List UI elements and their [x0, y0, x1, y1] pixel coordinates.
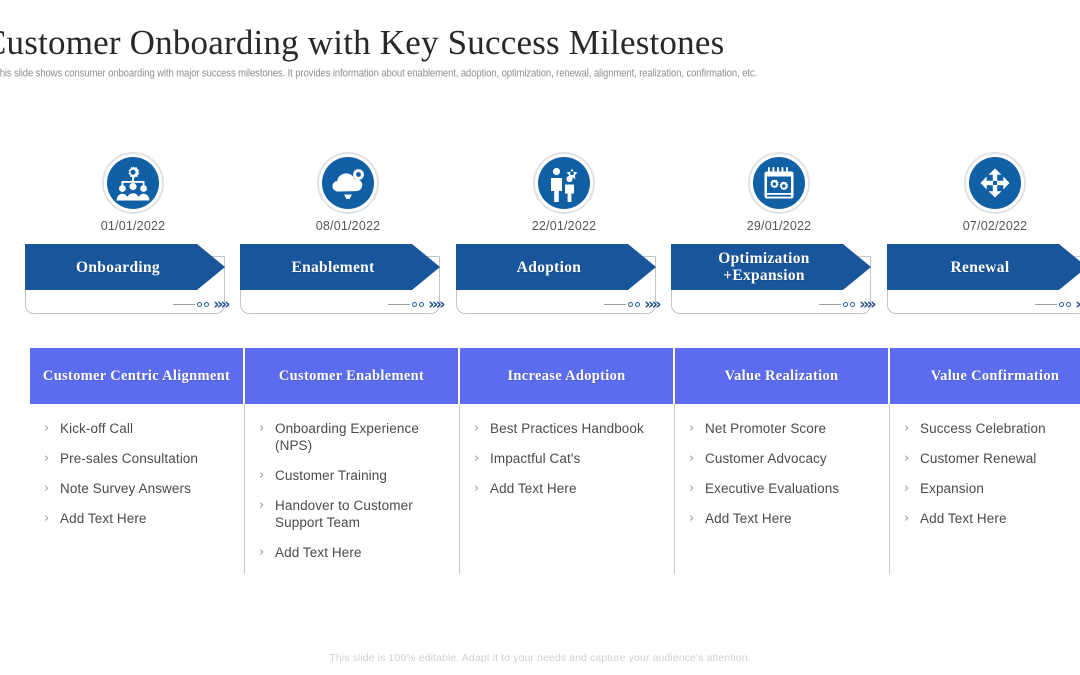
banner-progress-decoration: ››››: [1035, 296, 1080, 312]
milestone-banner[interactable]: ››››Renewal: [887, 244, 1080, 314]
chevron-right-icon: ›: [44, 420, 60, 437]
list-item-label: Add Text Here: [60, 510, 147, 527]
milestone-date: 01/01/2022: [25, 219, 241, 233]
adult-child-star-icon: [538, 157, 590, 209]
list-item-label: Add Text Here: [920, 510, 1007, 527]
banner-arrow[interactable]: Enablement: [240, 244, 440, 290]
list-item-label: Net Promoter Score: [705, 420, 826, 437]
milestone-1: 01/01/2022››››Onboarding: [25, 148, 241, 323]
list-item[interactable]: ›Expansion: [904, 480, 1080, 497]
list-item[interactable]: ›Add Text Here: [259, 544, 449, 561]
list-item[interactable]: ›Add Text Here: [44, 510, 234, 527]
refresh-cycle-icon: [969, 157, 1021, 209]
deco-dot: [1066, 302, 1071, 307]
chevron-right-icon: ›: [259, 497, 275, 514]
table-column-header-5: Value Confirmation: [890, 348, 1080, 404]
chevron-right-icon: ›: [689, 450, 705, 467]
list-item-label: Add Text Here: [705, 510, 792, 527]
list-item[interactable]: ›Handover to Customer Support Team: [259, 497, 449, 531]
milestone-icon-badge: [533, 152, 595, 214]
milestone-date: 08/01/2022: [240, 219, 456, 233]
deco-dot: [843, 302, 848, 307]
list-item-label: Onboarding Experience (NPS): [275, 420, 449, 454]
list-item-label: Pre-sales Consultation: [60, 450, 198, 467]
chevron-right-icon: ›: [904, 450, 920, 467]
table-body-row: ›Kick-off Call›Pre-sales Consultation›No…: [30, 404, 1080, 574]
banner-arrow[interactable]: Onboarding: [25, 244, 225, 290]
page-title: Customer Onboarding with Key Success Mil…: [0, 22, 1080, 64]
people-gear-icon: [107, 157, 159, 209]
list-item-label: Impactful Cat's: [490, 450, 580, 467]
list-item-label: Executive Evaluations: [705, 480, 839, 497]
list-item-label: Expansion: [920, 480, 984, 497]
list-item[interactable]: ›Best Practices Handbook: [474, 420, 664, 437]
chevron-right-icon: ››››: [644, 298, 659, 310]
banner-label: Adoption: [517, 259, 595, 276]
table-column-header-1: Customer Centric Alignment: [30, 348, 245, 404]
deco-dot: [204, 302, 209, 307]
column-header-label: Customer Enablement: [279, 367, 424, 385]
calendar-gears-icon: [753, 157, 805, 209]
list-item[interactable]: ›Note Survey Answers: [44, 480, 234, 497]
chevron-right-icon: ›: [474, 420, 490, 437]
banner-label: Onboarding: [76, 259, 174, 276]
table-column-4: ›Net Promoter Score›Customer Advocacy›Ex…: [675, 404, 890, 574]
list-item[interactable]: ›Impactful Cat's: [474, 450, 664, 467]
list-item[interactable]: ›Add Text Here: [689, 510, 879, 527]
banner-label: Enablement: [291, 259, 388, 276]
table-column-2: ›Onboarding Experience (NPS)›Customer Tr…: [245, 404, 460, 574]
list-item-label: Note Survey Answers: [60, 480, 191, 497]
list-item-label: Kick-off Call: [60, 420, 133, 437]
milestone-icon-badge: [102, 152, 164, 214]
milestone-detail-table: Customer Centric AlignmentCustomer Enabl…: [30, 348, 1080, 574]
list-item[interactable]: ›Customer Renewal: [904, 450, 1080, 467]
chevron-right-icon: ›: [474, 480, 490, 497]
chevron-right-icon: ›: [689, 420, 705, 437]
cloud-bubble-icon: [322, 157, 374, 209]
milestone-date: 22/01/2022: [456, 219, 672, 233]
chevron-right-icon: ›: [259, 544, 275, 561]
page-subtitle: This slide shows consumer onboarding wit…: [0, 67, 1080, 81]
chevron-right-icon: ›: [904, 420, 920, 437]
banner-label: Optimization+Expansion: [718, 250, 823, 284]
chevron-right-icon: ›: [689, 480, 705, 497]
chevron-right-icon: ›: [904, 510, 920, 527]
chevron-right-icon: ›: [904, 480, 920, 497]
column-header-label: Value Confirmation: [931, 367, 1060, 385]
list-item[interactable]: ›Kick-off Call: [44, 420, 234, 437]
list-item-label: Customer Renewal: [920, 450, 1036, 467]
table-column-3: ›Best Practices Handbook›Impactful Cat's…: [460, 404, 675, 574]
chevron-right-icon: ›: [474, 450, 490, 467]
banner-progress-decoration: ››››: [388, 296, 443, 312]
milestone-5: 07/02/2022››››Renewal: [887, 148, 1080, 323]
list-item-label: Add Text Here: [490, 480, 577, 497]
list-item-label: Customer Advocacy: [705, 450, 827, 467]
table-column-header-4: Value Realization: [675, 348, 890, 404]
table-header-row: Customer Centric AlignmentCustomer Enabl…: [30, 348, 1080, 404]
column-header-label: Increase Adoption: [507, 367, 625, 385]
list-item-label: Success Celebration: [920, 420, 1046, 437]
milestone-banner[interactable]: ››››Onboarding: [25, 244, 225, 314]
chevron-right-icon: ››››: [1075, 298, 1080, 310]
list-item[interactable]: ›Net Promoter Score: [689, 420, 879, 437]
milestone-banner[interactable]: ››››Optimization+Expansion: [671, 244, 871, 314]
banner-label: Renewal: [951, 259, 1024, 276]
milestone-icon-badge: [317, 152, 379, 214]
list-item[interactable]: ›Add Text Here: [474, 480, 664, 497]
chevron-right-icon: ›: [689, 510, 705, 527]
table-column-5: ›Success Celebration›Customer Renewal›Ex…: [890, 404, 1080, 574]
chevron-right-icon: ››››: [859, 298, 874, 310]
milestone-banner[interactable]: ››››Enablement: [240, 244, 440, 314]
chevron-right-icon: ›: [259, 420, 275, 437]
banner-arrow[interactable]: Optimization+Expansion: [671, 244, 871, 290]
list-item-label: Handover to Customer Support Team: [275, 497, 449, 531]
list-item[interactable]: ›Customer Training: [259, 467, 449, 484]
deco-line: [604, 304, 626, 305]
table-column-header-3: Increase Adoption: [460, 348, 675, 404]
chevron-right-icon: ›: [259, 467, 275, 484]
milestone-2: 08/01/2022››››Enablement: [240, 148, 456, 323]
deco-dot: [412, 302, 417, 307]
table-column-1: ›Kick-off Call›Pre-sales Consultation›No…: [30, 404, 245, 574]
milestone-icon-badge: [964, 152, 1026, 214]
column-header-label: Value Realization: [725, 367, 839, 385]
list-item-label: Best Practices Handbook: [490, 420, 644, 437]
milestone-date: 07/02/2022: [887, 219, 1080, 233]
table-column-header-2: Customer Enablement: [245, 348, 460, 404]
deco-dot: [850, 302, 855, 307]
chevron-right-icon: ››››: [428, 298, 443, 310]
deco-line: [819, 304, 841, 305]
milestone-banner[interactable]: ››››Adoption: [456, 244, 656, 314]
footer-note: This slide is 100% editable. Adapt it to…: [0, 652, 1080, 664]
milestone-3: 22/01/2022››››Adoption: [456, 148, 672, 323]
chevron-right-icon: ›: [44, 450, 60, 467]
deco-dot: [1059, 302, 1064, 307]
deco-line: [173, 304, 195, 305]
deco-line: [388, 304, 410, 305]
list-item[interactable]: ›Executive Evaluations: [689, 480, 879, 497]
list-item[interactable]: ›Add Text Here: [904, 510, 1080, 527]
list-item[interactable]: ›Onboarding Experience (NPS): [259, 420, 449, 454]
list-item-label: Customer Training: [275, 467, 387, 484]
chevron-right-icon: ›: [44, 480, 60, 497]
banner-arrow[interactable]: Renewal: [887, 244, 1080, 290]
list-item-label: Add Text Here: [275, 544, 362, 561]
deco-line: [1035, 304, 1057, 305]
list-item[interactable]: ›Pre-sales Consultation: [44, 450, 234, 467]
chevron-right-icon: ›: [44, 510, 60, 527]
banner-arrow[interactable]: Adoption: [456, 244, 656, 290]
banner-progress-decoration: ››››: [604, 296, 659, 312]
milestone-icon-badge: [748, 152, 810, 214]
milestone-date: 29/01/2022: [671, 219, 887, 233]
column-header-label: Customer Centric Alignment: [43, 367, 230, 385]
list-item[interactable]: ›Success Celebration: [904, 420, 1080, 437]
milestone-4: 29/01/2022››››Optimization+Expansion: [671, 148, 887, 323]
chevron-right-icon: ››››: [213, 298, 228, 310]
deco-dot: [628, 302, 633, 307]
list-item[interactable]: ›Customer Advocacy: [689, 450, 879, 467]
banner-progress-decoration: ››››: [173, 296, 228, 312]
deco-dot: [635, 302, 640, 307]
milestone-timeline: 01/01/2022››››Onboarding 08/01/2022››››E…: [0, 148, 1080, 323]
banner-progress-decoration: ››››: [819, 296, 874, 312]
deco-dot: [197, 302, 202, 307]
deco-dot: [419, 302, 424, 307]
